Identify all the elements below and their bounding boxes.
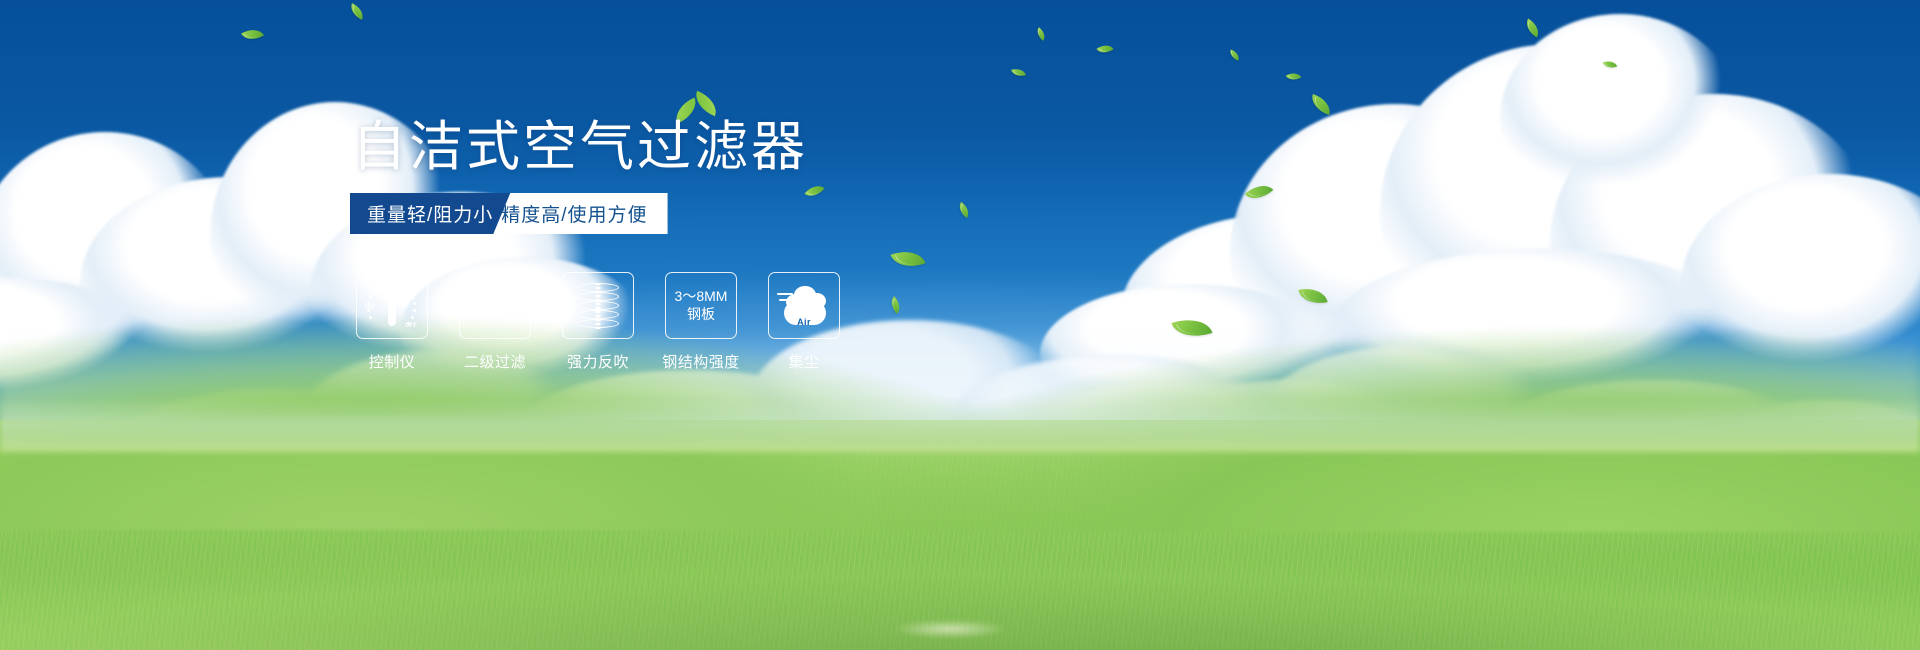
feature-item-steel[interactable]: 3～8MM 钢板 钢结构强度 (665, 272, 737, 372)
pressure-value-line1: 0.6～0.8 (469, 288, 522, 306)
steel-value-line1: 3～8MM (675, 288, 728, 306)
feature-label: 控制仪 (369, 351, 416, 372)
coil-spring-icon (577, 282, 619, 330)
feature-icon-box: Air (768, 272, 840, 339)
tagline-left: 重量轻/阻力小 (350, 193, 511, 234)
pressure-value-line2: MPA (469, 306, 522, 324)
feature-icon-box: 3～8MM 钢板 (665, 272, 737, 339)
banner-content: 自洁式空气过滤器 重量轻/阻力小 精度高/使用方便 (0, 0, 1920, 650)
page-title: 自洁式空气过滤器 (352, 118, 808, 176)
steel-value-line2: 钢板 (675, 306, 728, 324)
feature-icon-box (562, 272, 634, 339)
feature-icon-box: NO OFF (356, 272, 428, 339)
tagline-banner: 重量轻/阻力小 精度高/使用方便 (350, 193, 668, 234)
feature-label: 集尘 (788, 351, 819, 372)
feature-list: NO OFF 控制仪 0.6～0.8 MPA 二级过滤 (356, 272, 840, 372)
tagline-right: 精度高/使用方便 (493, 193, 667, 234)
gauge-off-label: OFF (405, 323, 417, 329)
feature-item-control[interactable]: NO OFF 控制仪 (356, 272, 428, 372)
feature-label: 二级过滤 (464, 351, 526, 372)
steel-plate-text-icon: 3～8MM 钢板 (675, 288, 728, 324)
feature-icon-box: 0.6～0.8 MPA (459, 272, 531, 339)
pressure-text-icon: 0.6～0.8 MPA (469, 288, 522, 324)
feature-label: 强力反吹 (567, 351, 629, 372)
dust-cloud-icon: Air (778, 284, 830, 328)
dust-air-label: Air (797, 317, 811, 327)
feature-item-pressure[interactable]: 0.6～0.8 MPA 二级过滤 (459, 272, 531, 372)
feature-item-blowback[interactable]: 强力反吹 (562, 272, 634, 372)
gauge-on-label: NO (365, 305, 374, 311)
feature-label: 钢结构强度 (662, 351, 740, 372)
feature-item-dust[interactable]: Air 集尘 (768, 272, 840, 372)
gauge-meter-icon: NO OFF (364, 280, 420, 332)
